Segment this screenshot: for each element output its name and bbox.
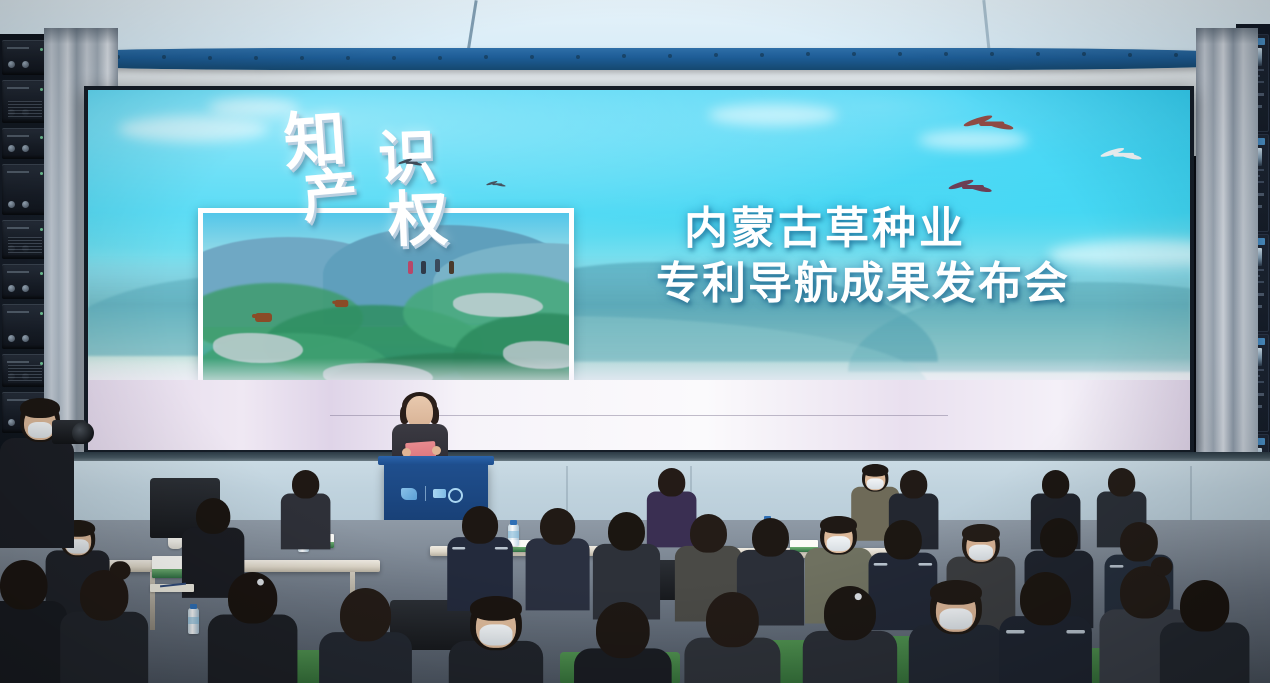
rack-unit: [2, 128, 48, 159]
rack-led: [40, 88, 43, 91]
water-bottle: [188, 608, 199, 634]
rack-vent: [8, 365, 42, 383]
rack-label-strip: [7, 87, 29, 89]
badge-number: [1257, 193, 1264, 196]
rack-label-strip: [7, 271, 29, 273]
podium-logo-left-icon: [401, 488, 417, 500]
rack-knob: [8, 145, 15, 152]
bird-body: [492, 183, 502, 185]
uniform-epaulette: [452, 547, 465, 549]
rack-knob: [22, 285, 29, 292]
uniform-epaulette: [874, 563, 888, 566]
podium-logo-divider: [425, 486, 426, 501]
rack-unit: [2, 220, 48, 259]
audience-hair: [820, 516, 857, 533]
audience-head: [884, 520, 922, 560]
audience-head: [292, 470, 319, 499]
hair-bun: [110, 561, 130, 580]
uniform-epaulette: [1066, 630, 1085, 633]
audience-head: [228, 572, 277, 624]
photo-cattle: [335, 300, 349, 307]
audience-head: [1042, 470, 1069, 499]
bottle-cap: [190, 604, 197, 609]
bird-body: [1113, 153, 1134, 157]
camera-lens: [72, 422, 94, 444]
title-line-1: 内蒙古草种业: [684, 202, 1190, 257]
rack-vent: [8, 101, 42, 119]
badge-number: [1257, 393, 1264, 396]
audience-head: [196, 498, 230, 534]
uniform-epaulette: [1006, 630, 1025, 633]
audience-hair: [470, 596, 522, 620]
face-mask: [867, 478, 884, 489]
face-mask: [479, 624, 512, 646]
uniform-epaulette: [918, 563, 932, 566]
photographer-mask: [28, 422, 52, 438]
photo-figure: [421, 261, 426, 274]
audience-body: [1160, 623, 1250, 683]
rack-label-strip: [7, 227, 29, 229]
audience-head: [658, 468, 685, 497]
rack-label-strip: [7, 135, 29, 137]
led-screen: 知 识 产 权 内蒙古草种业 专利导航成果发布会 指导单位： 内蒙古自治区市场监…: [88, 90, 1190, 450]
audience-body: [60, 612, 148, 683]
audience-body: [999, 616, 1092, 683]
uniform-epaulette: [1110, 565, 1124, 568]
rack-unit: [2, 164, 48, 215]
rack-led: [40, 172, 43, 175]
bird-body: [962, 185, 984, 189]
rack-knob: [8, 201, 15, 208]
rack-knob: [8, 285, 15, 292]
audience-head: [1020, 572, 1071, 625]
face-mask: [969, 545, 993, 561]
speaker-hand-right: [432, 446, 441, 455]
audience-body: [647, 492, 697, 548]
calligraphy-char-quan: 权: [387, 189, 449, 251]
photo-figure: [408, 261, 413, 274]
rack-led: [40, 272, 43, 275]
calligraphy-char-chan: 产: [300, 166, 361, 227]
hair-bun: [1151, 557, 1172, 577]
rack-knob: [22, 201, 29, 208]
rack-label-strip: [7, 311, 29, 313]
audience-head: [462, 506, 498, 544]
audience-head: [706, 592, 759, 647]
rack-label-strip: [7, 171, 29, 173]
audience-head: [690, 514, 727, 553]
audience-body: [0, 601, 67, 683]
podium-logo-ring-icon: [448, 488, 463, 503]
rack-knob: [8, 335, 15, 342]
photo-cattle: [255, 313, 272, 322]
rack-led: [40, 312, 43, 315]
cloud: [708, 104, 838, 126]
podium-top: [378, 456, 494, 465]
face-mask: [939, 608, 972, 630]
rack-knob: [8, 61, 15, 68]
cloud: [118, 116, 268, 142]
cloud: [918, 130, 1028, 150]
bird-body: [406, 162, 418, 164]
bottle-label: [508, 531, 519, 537]
photo-rock: [453, 293, 543, 317]
rack-label-strip: [7, 361, 29, 363]
audience-head: [1040, 518, 1078, 558]
photo-figure: [449, 261, 454, 274]
uniform-epaulette: [495, 547, 508, 549]
audience-head: [1120, 522, 1158, 562]
photo-figure: [435, 259, 440, 272]
rack-unit: [2, 80, 48, 123]
audience-body: [208, 615, 298, 683]
rack-unit: [2, 40, 48, 75]
photographer-hair: [20, 398, 60, 418]
rack-led: [40, 228, 43, 231]
stage-wall-trim: [0, 452, 1270, 461]
rack-unit: [2, 304, 48, 349]
bottle-label: [188, 617, 199, 624]
photographer-body: [0, 438, 74, 548]
rack-led: [40, 48, 43, 51]
audience-hair: [862, 464, 888, 476]
audience-head: [0, 560, 48, 610]
audience-body: [281, 494, 331, 550]
beam-light-row: [0, 52, 1270, 60]
audience-head: [596, 602, 650, 658]
audience-body: [526, 538, 590, 610]
desk-leg: [150, 572, 155, 630]
rack-unit: [2, 354, 48, 387]
audience-head: [824, 586, 876, 640]
bottle-cap: [510, 520, 517, 525]
badge-number: [1257, 93, 1264, 96]
calligraphy-char-shi: 识: [377, 127, 437, 187]
title-line-2: 专利导航成果发布会: [656, 257, 1190, 312]
bird-body: [979, 121, 1004, 126]
audience-head: [1108, 468, 1135, 497]
podium-logo-right-icon: [433, 489, 446, 498]
rack-unit: [2, 264, 48, 299]
audience-head: [1180, 580, 1229, 632]
rack-vent: [8, 237, 42, 255]
rack-label-strip: [7, 47, 29, 49]
screen-main-title: 内蒙古草种业 专利导航成果发布会: [684, 202, 1190, 311]
face-mask: [827, 536, 851, 551]
rack-knob: [8, 419, 15, 426]
audience-head: [540, 508, 575, 545]
audience-head: [608, 512, 645, 551]
rack-knob: [22, 335, 29, 342]
rack-knob: [22, 61, 29, 68]
audience-hair: [962, 524, 1000, 542]
audience-head: [900, 470, 927, 499]
audience-head: [340, 588, 391, 641]
audience-head: [752, 518, 789, 557]
badge-number: [1257, 293, 1264, 296]
rack-led: [40, 136, 43, 139]
rack-knob: [22, 145, 29, 152]
audience-hair: [930, 580, 982, 604]
conference-photo: 知 识 产 权 内蒙古草种业 专利导航成果发布会 指导单位： 内蒙古自治区市场监…: [0, 0, 1270, 683]
